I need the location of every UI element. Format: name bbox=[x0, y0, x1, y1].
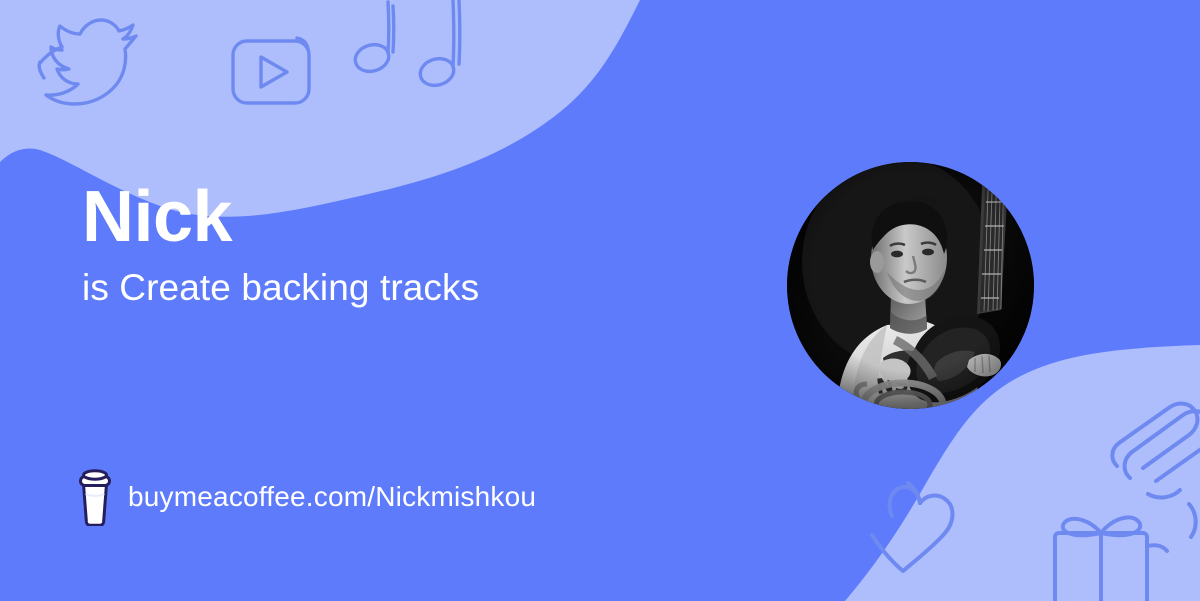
profile-url[interactable]: buymeacoffee.com/Nickmishkou bbox=[128, 481, 536, 513]
footer: buymeacoffee.com/Nickmishkou bbox=[78, 468, 536, 526]
music-note-doodle-2 bbox=[417, 0, 460, 89]
page-title: Nick bbox=[82, 182, 722, 253]
creator-tagline: is Create backing tracks bbox=[82, 267, 722, 310]
coffee-cup-icon bbox=[78, 468, 112, 526]
music-note-doodle-1 bbox=[352, 2, 394, 75]
gift-box-doodle bbox=[1055, 517, 1167, 601]
twitter-bird-doodle bbox=[39, 20, 136, 104]
youtube-play-doodle bbox=[233, 38, 309, 103]
avatar-photo: NS bbox=[787, 162, 1034, 409]
avatar: NS bbox=[787, 162, 1034, 409]
creator-text-block: Nick is Create backing tracks bbox=[82, 182, 722, 309]
share-card: NS bbox=[0, 0, 1200, 601]
paperclip-doodle bbox=[1112, 404, 1200, 537]
heart-doodle bbox=[872, 483, 953, 571]
